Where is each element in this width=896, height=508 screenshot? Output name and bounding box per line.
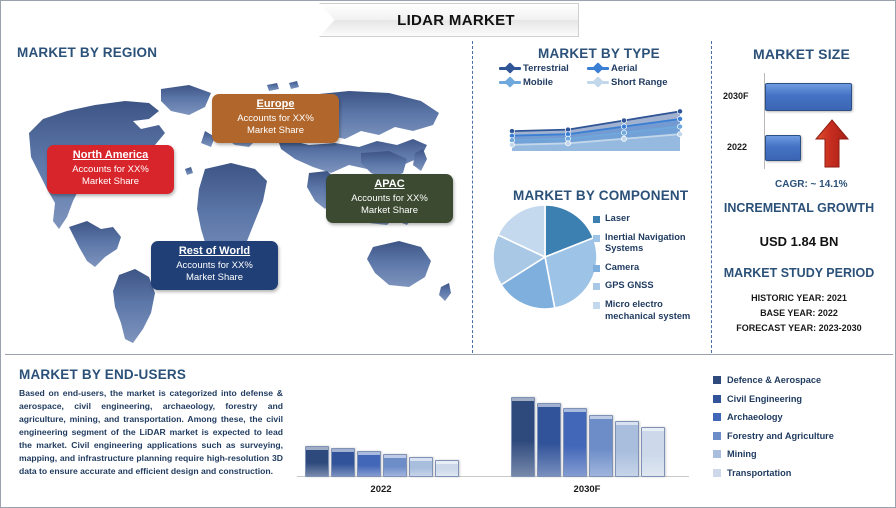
legend-item-terrestrial[interactable]: Terrestrial xyxy=(499,63,587,74)
legend-label: Terrestrial xyxy=(523,63,569,74)
legend-swatch-icon xyxy=(593,216,600,223)
end-users-legend-item[interactable]: Mining xyxy=(713,449,889,459)
pie-legend-label: Inertial Navigation Systems xyxy=(605,232,711,255)
pie-legend-label: Micro electro mechanical system xyxy=(605,299,711,322)
region-line2: Market Share xyxy=(53,176,168,188)
region-box-europe[interactable]: Europe Accounts for XX% Market Share xyxy=(212,94,339,143)
legend-swatch-icon xyxy=(593,302,600,309)
line-marker-icon xyxy=(499,67,521,70)
legend-swatch-icon xyxy=(713,432,721,440)
market-size-bar-2030f[interactable] xyxy=(765,83,852,111)
end-users-legend-item[interactable]: Archaeology xyxy=(713,412,889,422)
market-size-label-2022: 2022 xyxy=(727,142,747,152)
legend-label: Aerial xyxy=(611,63,637,74)
pie-legend-label: Laser xyxy=(605,213,630,225)
market-size-bar-2022[interactable] xyxy=(765,135,801,161)
legend-swatch-icon xyxy=(593,235,600,242)
pie-legend-item[interactable]: GPS GNSS xyxy=(593,280,711,292)
end-users-bar[interactable] xyxy=(383,454,407,477)
pie-legend-label: Camera xyxy=(605,262,639,274)
region-line1: Accounts for XX% xyxy=(218,113,333,125)
incremental-growth-heading: INCREMENTAL GROWTH xyxy=(701,201,896,215)
page-title-banner: LIDAR MARKET xyxy=(319,3,579,37)
market-by-region-heading: MARKET BY REGION xyxy=(17,45,157,60)
market-by-component-pie-chart xyxy=(490,203,600,315)
region-box-north-america[interactable]: North America Accounts for XX% Market Sh… xyxy=(47,145,174,194)
pie-legend-label: GPS GNSS xyxy=(605,280,654,292)
end-users-bar[interactable] xyxy=(641,427,665,478)
line-marker-icon xyxy=(587,81,609,84)
region-box-apac[interactable]: APAC Accounts for XX% Market Share xyxy=(326,174,453,223)
region-box-rest-of-world[interactable]: Rest of World Accounts for XX% Market Sh… xyxy=(151,241,278,290)
end-users-bar[interactable] xyxy=(357,451,381,477)
region-line1: Accounts for XX% xyxy=(157,260,272,272)
end-users-legend-label: Civil Engineering xyxy=(727,394,802,404)
market-by-type-heading: MARKET BY TYPE xyxy=(538,46,660,61)
line-marker-icon xyxy=(587,67,609,70)
end-users-bar[interactable] xyxy=(305,446,329,477)
pie-legend-item[interactable]: Inertial Navigation Systems xyxy=(593,232,711,255)
divider-horizontal xyxy=(5,354,893,355)
end-users-bar[interactable] xyxy=(331,448,355,477)
legend-swatch-icon xyxy=(713,450,721,458)
end-users-legend-label: Forestry and Agriculture xyxy=(727,431,834,441)
end-users-legend-label: Mining xyxy=(727,449,757,459)
end-users-bar[interactable] xyxy=(435,460,459,477)
region-line2: Market Share xyxy=(332,205,447,217)
infographic-page: LIDAR MARKET MARKET BY REGION xyxy=(0,0,896,508)
region-name: Rest of World xyxy=(157,245,272,259)
growth-arrow-up-icon xyxy=(814,119,850,169)
market-size-heading: MARKET SIZE xyxy=(753,46,850,62)
region-line1: Accounts for XX% xyxy=(332,193,447,205)
market-by-component-legend: LaserInertial Navigation SystemsCameraGP… xyxy=(593,213,711,329)
pie-legend-item[interactable]: Camera xyxy=(593,262,711,274)
end-users-bar[interactable] xyxy=(563,408,587,477)
market-by-type-line-chart xyxy=(506,105,686,157)
end-users-legend-item[interactable]: Defence & Aerospace xyxy=(713,375,889,385)
cagr-text: CAGR: ~ 14.1% xyxy=(775,179,848,190)
divider-vertical-left xyxy=(472,41,473,353)
end-users-bar[interactable] xyxy=(511,397,535,477)
end-users-legend-item[interactable]: Transportation xyxy=(713,468,889,478)
legend-swatch-icon xyxy=(593,283,600,290)
legend-swatch-icon xyxy=(593,265,600,272)
market-by-component-heading: MARKET BY COMPONENT xyxy=(513,188,688,203)
region-line2: Market Share xyxy=(218,125,333,137)
page-title: LIDAR MARKET xyxy=(383,12,515,29)
legend-label: Short Range xyxy=(611,77,667,88)
legend-item-mobile[interactable]: Mobile xyxy=(499,77,587,88)
region-line2: Market Share xyxy=(157,272,272,284)
legend-swatch-icon xyxy=(713,413,721,421)
region-name: Europe xyxy=(218,98,333,112)
end-users-bar-chart: 20222030F xyxy=(297,377,689,499)
end-users-bar[interactable] xyxy=(615,421,639,477)
incremental-growth-value: USD 1.84 BN xyxy=(701,234,896,249)
market-study-period-heading: MARKET STUDY PERIOD xyxy=(701,266,896,280)
market-by-end-users-heading: MARKET BY END-USERS xyxy=(19,367,186,382)
end-users-legend-label: Transportation xyxy=(727,468,791,478)
legend-label: Mobile xyxy=(523,77,553,88)
end-users-legend-label: Archaeology xyxy=(727,412,783,422)
region-name: North America xyxy=(53,149,168,163)
study-period-forecast-year: FORECAST YEAR: 2023-2030 xyxy=(701,323,896,333)
pie-legend-item[interactable]: Micro electro mechanical system xyxy=(593,299,711,322)
legend-item-aerial[interactable]: Aerial xyxy=(587,63,675,74)
market-by-type-legend: Terrestrial Aerial Mobile Short Range xyxy=(499,63,679,91)
end-users-legend: Defence & AerospaceCivil EngineeringArch… xyxy=(713,375,889,486)
end-users-legend-label: Defence & Aerospace xyxy=(727,375,821,385)
study-period-historic-year: HISTORIC YEAR: 2021 xyxy=(701,293,896,303)
end-users-paragraph: Based on end-users, the market is catego… xyxy=(19,387,283,478)
pie-legend-item[interactable]: Laser xyxy=(593,213,711,225)
legend-swatch-icon xyxy=(713,469,721,477)
divider-vertical-right xyxy=(711,41,712,353)
world-map: North America Accounts for XX% Market Sh… xyxy=(9,61,464,351)
line-marker-icon xyxy=(499,81,521,84)
end-users-bar[interactable] xyxy=(409,457,433,477)
legend-item-short-range[interactable]: Short Range xyxy=(587,77,675,88)
end-users-bar[interactable] xyxy=(589,415,613,477)
legend-swatch-icon xyxy=(713,395,721,403)
region-name: APAC xyxy=(332,178,447,192)
legend-swatch-icon xyxy=(713,376,721,384)
end-users-legend-item[interactable]: Forestry and Agriculture xyxy=(713,431,889,441)
end-users-axis-tick: 2030F xyxy=(511,484,663,495)
end-users-legend-item[interactable]: Civil Engineering xyxy=(713,394,889,404)
end-users-axis-tick: 2022 xyxy=(305,484,457,495)
end-users-bar[interactable] xyxy=(537,403,561,477)
market-size-label-2030f: 2030F xyxy=(723,91,749,101)
study-period-base-year: BASE YEAR: 2022 xyxy=(701,308,896,318)
region-line1: Accounts for XX% xyxy=(53,164,168,176)
